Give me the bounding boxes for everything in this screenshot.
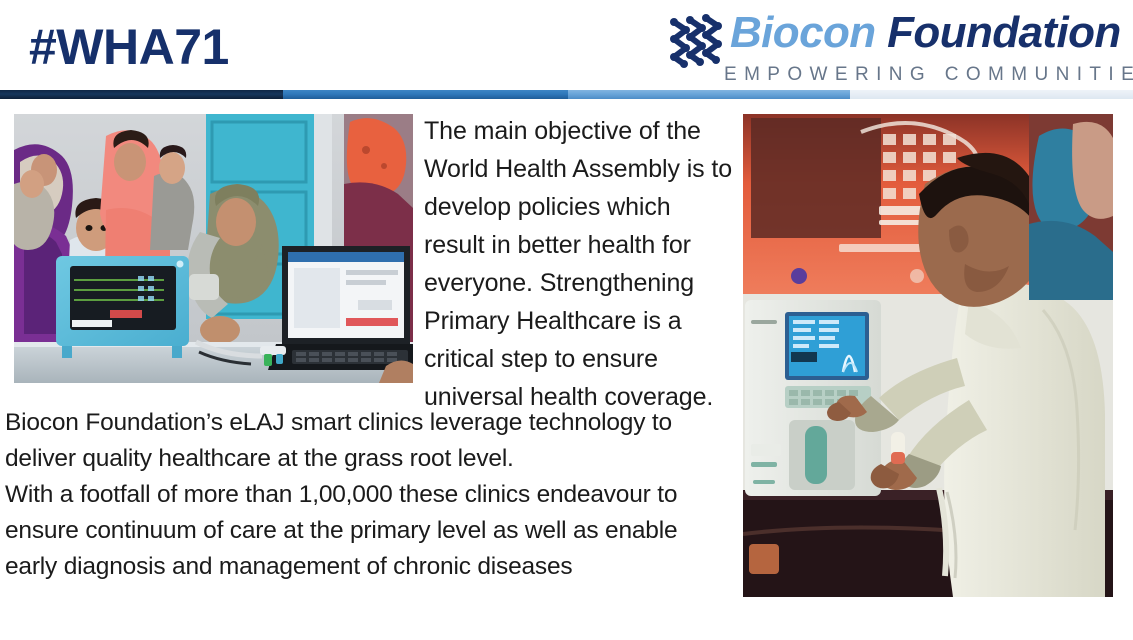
presentation-slide: #WHA71 <box>0 0 1133 640</box>
photo-clinic-scene <box>14 114 413 383</box>
photo-clinic-content <box>14 114 413 383</box>
objective-paragraph: The main objective of the World Health A… <box>424 112 734 416</box>
header-divider-bar <box>0 90 1133 99</box>
slide-hashtag-title: #WHA71 <box>29 22 229 72</box>
biocon-foundation-logo: Biocon Foundation EMPOWERING COMMUNITIES <box>664 8 1130 90</box>
logo-word-foundation: Foundation <box>887 8 1121 57</box>
elaj-description-block: Biocon Foundation’s eLAJ smart clinics l… <box>5 405 735 585</box>
photo-lab-content <box>743 114 1113 597</box>
elaj-paragraph-2: With a footfall of more than 1,00,000 th… <box>5 477 735 585</box>
photo-lab-technician <box>743 114 1113 597</box>
logo-word-biocon: Biocon <box>730 8 876 57</box>
divider-segment-medium-blue <box>283 90 568 99</box>
dna-helix-icon <box>666 12 728 74</box>
divider-segment-dark-navy <box>0 90 283 99</box>
divider-segment-light-blue <box>568 90 850 99</box>
logo-wordmark: Biocon Foundation <box>730 10 1121 56</box>
divider-segment-pale-blue <box>850 90 1133 99</box>
elaj-paragraph-1: Biocon Foundation’s eLAJ smart clinics l… <box>5 405 735 477</box>
logo-tagline: EMPOWERING COMMUNITIES <box>724 64 1130 86</box>
